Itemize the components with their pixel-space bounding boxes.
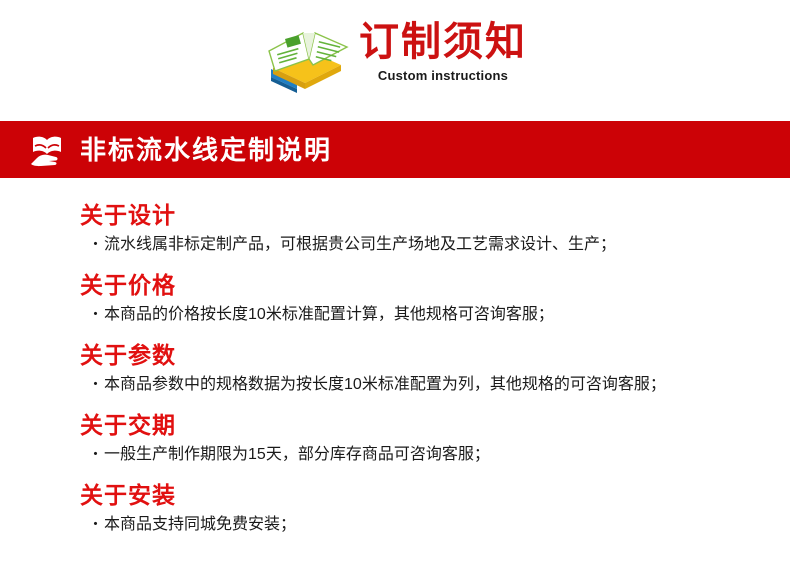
custom-instructions-page: 订制须知 Custom instructions 非标流水线定制说明 关于设计 … bbox=[0, 0, 790, 584]
page-subtitle: Custom instructions bbox=[378, 67, 508, 85]
instruction-section-design: 关于设计 ・流水线属非标定制产品，可根据贵公司生产场地及工艺需求设计、生产； bbox=[0, 186, 790, 256]
bullet-marker: ・ bbox=[88, 306, 103, 323]
instruction-section-delivery: 关于交期 ・一般生产制作期限为15天，部分库存商品可咨询客服； bbox=[0, 396, 790, 466]
section-heading: 关于价格 bbox=[80, 272, 176, 299]
bullet-marker: ・ bbox=[88, 446, 103, 463]
open-books-icon bbox=[263, 21, 351, 95]
page-header: 订制须知 Custom instructions bbox=[0, 0, 790, 110]
section-banner: 非标流水线定制说明 bbox=[0, 121, 790, 178]
section-body-text: 流水线属非标定制产品，可根据贵公司生产场地及工艺需求设计、生产； bbox=[104, 236, 616, 253]
header-text-group: 订制须知 Custom instructions bbox=[359, 15, 527, 85]
instruction-section-installation: 关于安装 ・本商品支持同城免费安装； bbox=[0, 466, 790, 536]
bullet-marker: ・ bbox=[88, 236, 103, 253]
page-title: 订制须知 bbox=[359, 19, 527, 65]
section-body: ・本商品支持同城免费安装； bbox=[88, 514, 296, 536]
section-heading: 关于设计 bbox=[80, 202, 176, 229]
section-body: ・本商品的价格按长度10米标准配置计算，其他规格可咨询客服； bbox=[88, 304, 554, 326]
bullet-marker: ・ bbox=[88, 516, 103, 533]
section-body-text: 本商品支持同城免费安装； bbox=[104, 516, 296, 533]
section-body-text: 本商品参数中的规格数据为按长度10米标准配置为列，其他规格的可咨询客服； bbox=[104, 376, 666, 393]
section-body: ・一般生产制作期限为15天，部分库存商品可咨询客服； bbox=[88, 444, 490, 466]
section-body: ・流水线属非标定制产品，可根据贵公司生产场地及工艺需求设计、生产； bbox=[88, 234, 616, 256]
instructions-list: 关于设计 ・流水线属非标定制产品，可根据贵公司生产场地及工艺需求设计、生产； 关… bbox=[0, 186, 790, 536]
instruction-section-price: 关于价格 ・本商品的价格按长度10米标准配置计算，其他规格可咨询客服； bbox=[0, 256, 790, 326]
header-content: 订制须知 Custom instructions bbox=[263, 15, 527, 95]
section-body-text: 本商品的价格按长度10米标准配置计算，其他规格可咨询客服； bbox=[104, 306, 554, 323]
section-body-text: 一般生产制作期限为15天，部分库存商品可咨询客服； bbox=[104, 446, 490, 463]
section-body: ・本商品参数中的规格数据为按长度10米标准配置为列，其他规格的可咨询客服； bbox=[88, 374, 666, 396]
bullet-marker: ・ bbox=[88, 376, 103, 393]
section-heading: 关于安装 bbox=[80, 482, 176, 509]
section-heading: 关于参数 bbox=[80, 342, 176, 369]
banner-title: 非标流水线定制说明 bbox=[80, 135, 332, 165]
instruction-section-parameters: 关于参数 ・本商品参数中的规格数据为按长度10米标准配置为列，其他规格的可咨询客… bbox=[0, 326, 790, 396]
book-in-hand-icon bbox=[28, 133, 66, 167]
section-heading: 关于交期 bbox=[80, 412, 176, 439]
